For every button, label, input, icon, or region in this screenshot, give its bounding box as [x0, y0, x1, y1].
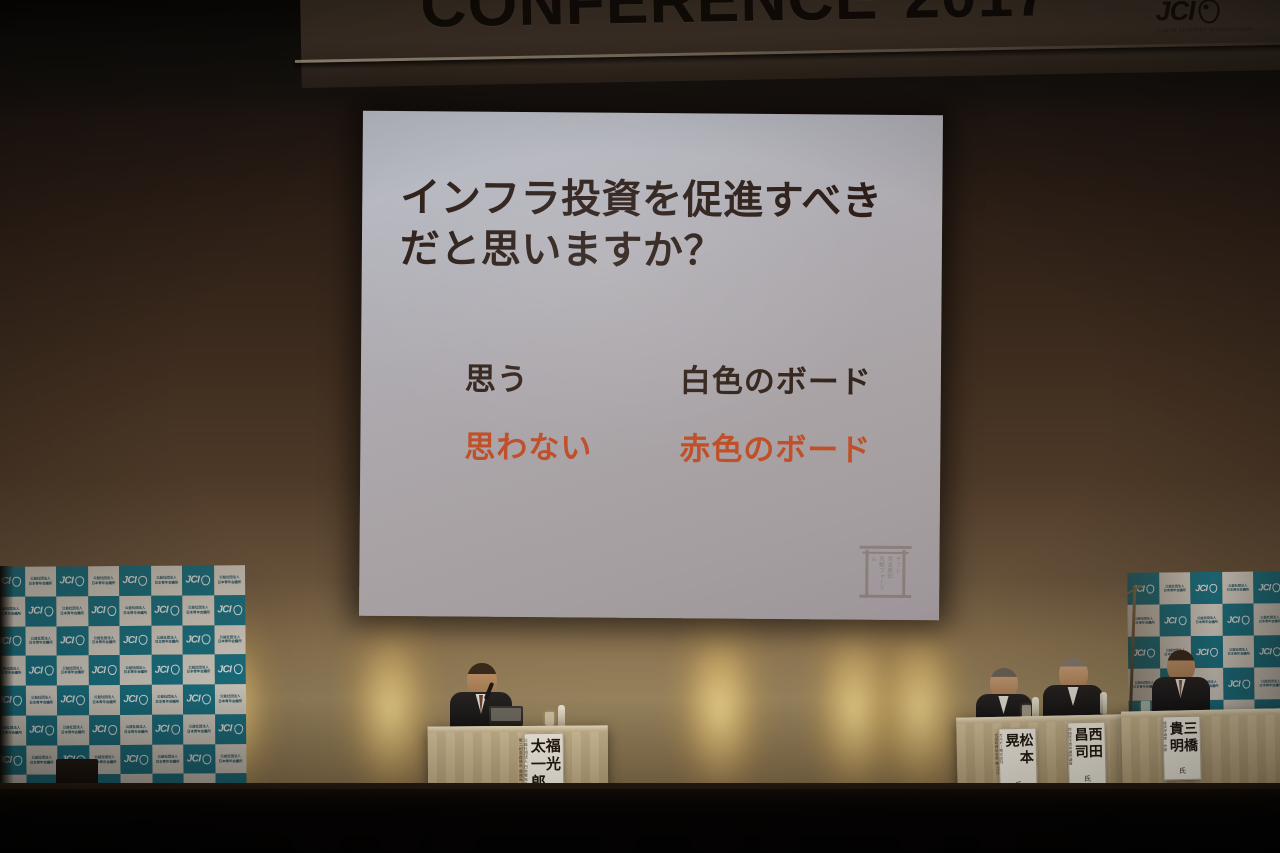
option-no-answer: 思わない: [464, 422, 679, 469]
location-pin-icon: [1198, 0, 1219, 24]
backdrop-logo-tile: JCI: [119, 566, 151, 596]
backdrop-org-name: 公益社団法人 日本青年会議所: [1195, 616, 1217, 625]
backdrop-logo-tile: JCI: [1254, 635, 1280, 667]
backdrop-text-tile: 公益社団法人 日本青年会議所: [183, 655, 215, 685]
backdrop-text-tile: 公益社団法人 日本青年会議所: [183, 714, 215, 744]
backdrop-logo-tile: JCI: [151, 595, 183, 625]
nameplate-panelist-nishida: 西田 昌司 自由民主党参議院議員 氏: [1067, 722, 1106, 789]
backdrop-org-name: 公益社団法人 日本青年会議所: [61, 725, 85, 734]
location-pin-icon: [140, 754, 149, 764]
jci-logo-icon: JCI: [1259, 646, 1280, 656]
backdrop-text-tile: 公益社団法人 日本青年会議所: [119, 596, 151, 626]
audience-head: [1230, 819, 1276, 853]
torii-top-bar: [860, 546, 912, 549]
audience-head: [40, 825, 78, 853]
location-pin-icon: [202, 694, 211, 704]
backdrop-text-tile: 公益社団法人 日本青年会議所: [215, 744, 247, 774]
jci-logo-icon: JCI: [155, 664, 180, 675]
audience-head: [980, 825, 1018, 853]
backdrop-org-name: 公益社団法人 日本青年会議所: [218, 695, 242, 704]
audience-head: [290, 817, 340, 853]
location-pin-icon: [170, 605, 179, 615]
backdrop-org-name: 公益社団法人 日本青年会議所: [92, 576, 116, 585]
backdrop-logo-tile: JCI: [89, 715, 121, 745]
backdrop-logo-tile: JCI: [26, 715, 58, 745]
backdrop-logo-tile: JCI: [56, 626, 88, 656]
jci-logo-icon: JCI: [92, 724, 117, 735]
audience-head: [170, 827, 204, 853]
backdrop-org-name: 公益社団法人 日本青年会議所: [30, 755, 54, 764]
backdrop-text-tile: 公益社団法人 日本青年会議所: [1191, 604, 1223, 636]
jci-logo-icon: JCI: [60, 635, 85, 646]
nameplate-honorific: 氏: [1179, 766, 1186, 776]
location-pin-icon: [1210, 647, 1218, 656]
jci-logo-icon: JCI: [155, 724, 180, 735]
backdrop-logo-tile: JCI: [1159, 604, 1191, 636]
backdrop-org-name: 公益社団法人 日本青年会議所: [156, 755, 180, 764]
backdrop-org-name: 公益社団法人 日本青年会議所: [218, 635, 242, 644]
backdrop-logo-tile: JCI: [1223, 668, 1255, 700]
jci-logo-icon: JCI: [218, 723, 243, 734]
audience-head: [120, 819, 166, 853]
backdrop-text-tile: 公益社団法人 日本青年会議所: [214, 684, 246, 714]
projection-screen: インフラ投資を促進すべき だと思いますか？ 思う 白色のボード 思わない 赤色の…: [359, 111, 943, 621]
backdrop-text-tile: 公益社団法人 日本青年会議所: [1223, 636, 1255, 668]
backdrop-logo-tile: JCI: [183, 684, 215, 714]
backdrop-text-tile: 公益社団法人 日本青年会議所: [57, 715, 89, 745]
location-pin-icon: [234, 724, 243, 734]
location-pin-icon: [107, 665, 116, 675]
backdrop-text-tile: 公益社団法人 日本青年会議所: [120, 715, 152, 745]
banner-jci-text: JCI: [1155, 0, 1195, 26]
backdrop-org-name: 公益社団法人 日本青年会議所: [29, 636, 53, 645]
jci-logo-icon: JCI: [217, 604, 242, 615]
backdrop-text-tile: 公益社団法人 日本青年会議所: [1159, 572, 1191, 604]
jci-logo-icon: JCI: [124, 754, 149, 765]
banner-jci-logo: JCI: [1155, 0, 1220, 27]
audience-head: [760, 823, 800, 853]
backdrop-logo-tile: JCI: [119, 625, 151, 655]
backdrop-text-tile: 公益社団法人 日本青年会議所: [152, 744, 184, 774]
jci-logo-icon: JCI: [60, 695, 85, 706]
location-pin-icon: [108, 725, 117, 735]
audience-head: [430, 819, 476, 853]
location-pin-icon: [1273, 647, 1280, 656]
location-pin-icon: [14, 755, 23, 765]
backdrop-logo-tile: JCI: [120, 685, 152, 715]
backdrop-org-name: 公益社団法人 日本青年会議所: [219, 754, 243, 763]
backdrop-logo-tile: JCI: [25, 596, 57, 626]
location-pin-icon: [1146, 584, 1154, 593]
backdrop-org-name: 公益社団法人 日本青年会議所: [1259, 615, 1280, 624]
jci-logo-icon: JCI: [29, 725, 54, 736]
backdrop-org-name: 公益社団法人 日本青年会議所: [155, 576, 179, 585]
backdrop-text-tile: 公益社団法人 日本青年会議所: [214, 625, 246, 655]
backdrop-text-tile: 公益社団法人 日本青年会議所: [88, 626, 120, 656]
location-pin-icon: [1273, 583, 1280, 592]
location-pin-icon: [203, 754, 212, 764]
location-pin-icon: [13, 636, 22, 646]
backdrop-text-tile: 公益社団法人 日本青年会議所: [1222, 572, 1254, 604]
backdrop-text-tile: 公益社団法人 日本青年会議所: [57, 656, 89, 686]
location-pin-icon: [138, 576, 147, 586]
backdrop-logo-tile: JCI: [88, 655, 120, 685]
backdrop-logo-tile: JCI: [1190, 572, 1222, 604]
backdrop-text-tile: 公益社団法人 日本青年会議所: [56, 596, 88, 626]
backdrop-org-name: 公益社団法人 日本青年会議所: [124, 725, 148, 734]
backdrop-logo-tile: JCI: [214, 654, 246, 684]
location-pin-icon: [170, 665, 179, 675]
location-pin-icon: [1242, 679, 1250, 688]
forum-watermark-logo: デフレ 完全脱却 先駆フォーラム: [859, 540, 911, 602]
backdrop-org-name: 公益社団法人 日本青年会議所: [1132, 616, 1154, 625]
backdrop-text-tile: 公益社団法人 日本青年会議所: [182, 595, 214, 625]
audience-head: [1160, 823, 1200, 853]
backdrop-org-name: 公益社団法人 日本青年会議所: [92, 636, 116, 645]
audience-head: [380, 823, 420, 853]
backdrop-text-tile: 公益社団法人 日本青年会議所: [26, 745, 58, 775]
backdrop-org-name: 公益社団法人 日本青年会議所: [60, 606, 84, 615]
location-pin-icon: [233, 664, 242, 674]
jci-logo-icon: JCI: [28, 606, 53, 617]
location-pin-icon: [76, 695, 85, 705]
jci-logo-icon: JCI: [122, 575, 147, 586]
jci-logo-icon: JCI: [92, 665, 117, 676]
location-pin-icon: [233, 605, 242, 615]
jci-logo-icon: JCI: [185, 575, 210, 586]
backdrop-org-name: 公益社団法人 日本青年会議所: [186, 605, 210, 614]
projected-slide: インフラ投資を促進すべき だと思いますか？ 思う 白色のボード 思わない 赤色の…: [359, 111, 943, 621]
backdrop-text-tile: 公益社団法人 日本青年会議所: [25, 566, 57, 596]
jci-logo-icon: JCI: [186, 694, 211, 705]
jci-logo-icon: JCI: [1164, 615, 1186, 625]
option-yes-answer: 思う: [465, 354, 680, 401]
backdrop-text-tile: 公益社団法人 日本青年会議所: [25, 686, 57, 716]
audience-head: [690, 813, 744, 853]
banner-jci-subtext: JUNIOR CHAMBER INTERNATIONAL: [1157, 27, 1254, 35]
backdrop-org-name: 公益社団法人 日本青年会議所: [29, 696, 53, 705]
water-glass: [545, 712, 554, 726]
audience-head: [1080, 815, 1132, 853]
location-pin-icon: [13, 696, 22, 706]
banner-conference-text: CONFERENCE: [420, 0, 879, 41]
banner-title: CONFERENCE2017: [420, 0, 1052, 42]
torii-left-leg: [865, 550, 868, 598]
location-pin-icon: [139, 635, 148, 645]
nameplate-panelist-mitsuhashi: 三橋 貴明 経済評論家・作家 氏: [1162, 716, 1201, 781]
backdrop-text-tile: 公益社団法人 日本青年会議所: [120, 655, 152, 685]
jci-logo-icon: JCI: [123, 635, 148, 646]
backdrop-org-name: 公益社団法人 日本青年会議所: [29, 577, 53, 586]
jci-logo-icon: JCI: [1195, 583, 1217, 593]
jci-logo-icon: JCI: [59, 576, 84, 587]
watermark-text: デフレ 完全脱却 先駆フォーラム: [875, 556, 901, 594]
backdrop-logo-tile: JCI: [151, 655, 183, 685]
jci-logo-icon: JCI: [154, 605, 179, 616]
backdrop-logo-tile: JCI: [56, 566, 88, 596]
location-pin-icon: [45, 725, 54, 735]
backdrop-org-name: 公益社団法人 日本青年会議所: [92, 695, 116, 704]
backdrop-logo-tile: JCI: [88, 596, 120, 626]
jci-logo-icon: JCI: [218, 664, 243, 675]
conference-photo: CONFERENCE2017 JCI JUNIOR CHAMBER INTERN…: [0, 0, 1280, 853]
backdrop-text-tile: 公益社団法人 日本青年会議所: [1254, 603, 1280, 635]
jci-logo-icon: JCI: [123, 694, 148, 705]
torii-right-leg: [902, 550, 905, 598]
backdrop-org-name: 公益社団法人 日本青年会議所: [61, 666, 85, 675]
backdrop-logo-tile: JCI: [182, 625, 214, 655]
location-pin-icon: [171, 724, 180, 734]
backdrop-logo-tile: JCI: [182, 565, 214, 595]
backdrop-text-tile: 公益社団法人 日本青年会議所: [25, 626, 57, 656]
audience-head: [900, 821, 944, 853]
backdrop-logo-tile: JCI: [1222, 604, 1254, 636]
water-bottle: [1100, 692, 1107, 714]
option-no-instruction: 赤色のボード: [679, 423, 871, 470]
backdrop-text-tile: 公益社団法人 日本青年会議所: [151, 625, 183, 655]
backdrop-text-tile: 公益社団法人 日本青年会議所: [214, 565, 246, 595]
backdrop-text-tile: 公益社団法人 日本青年会議所: [151, 685, 183, 715]
jci-logo-icon: JCI: [186, 634, 211, 645]
backdrop-logo-tile: JCI: [214, 595, 246, 625]
panelist-mitsuhashi-person: [1152, 650, 1210, 714]
slide-option-no: 思わない 赤色のボード: [464, 422, 984, 471]
backdrop-org-name: 公益社団法人 日本青年会議所: [218, 575, 242, 584]
jci-logo-icon: JCI: [1258, 582, 1280, 592]
backdrop-logo-tile: JCI: [215, 714, 247, 744]
backdrop-text-tile: 公益社団法人 日本青年会議所: [88, 566, 120, 596]
location-pin-icon: [1241, 615, 1249, 624]
backdrop-text-tile: 公益社団法人 日本青年会議所: [1255, 667, 1280, 699]
backdrop-org-name: 公益社団法人 日本青年会議所: [155, 635, 179, 644]
jci-logo-icon: JCI: [187, 753, 212, 764]
audience-silhouettes: [0, 789, 1280, 853]
slide-option-yes: 思う 白色のボード: [465, 354, 985, 403]
location-pin-icon: [76, 636, 85, 646]
water-bottle: [558, 705, 565, 727]
panelist-nishida-person: [1043, 658, 1103, 720]
backdrop-logo-tile: JCI: [183, 744, 215, 774]
backdrop-logo-tile: JCI: [1254, 571, 1280, 603]
backdrop-org-name: 公益社団法人 日本青年会議所: [155, 695, 179, 704]
backdrop-org-name: 公益社団法人 日本青年会議所: [1227, 583, 1249, 592]
backdrop-org-name: 公益社団法人 日本青年会議所: [187, 665, 211, 674]
backdrop-org-name: 公益社団法人 日本青年会議所: [1227, 647, 1249, 656]
torii-base-bar: [859, 595, 911, 598]
backdrop-logo-tile: JCI: [152, 714, 184, 744]
location-pin-icon: [201, 575, 210, 585]
location-pin-icon: [202, 635, 211, 645]
backdrop-logo-tile: JCI: [25, 656, 57, 686]
banner-year-text: 2017: [904, 0, 1052, 32]
moderator-laptop: [489, 706, 523, 726]
jci-logo-icon: JCI: [29, 665, 54, 676]
backdrop-org-name: 公益社団法人 日本青年会議所: [187, 725, 211, 734]
backdrop-org-name: 公益社団法人 日本青年会議所: [1164, 584, 1186, 593]
location-pin-icon: [107, 606, 116, 616]
jci-logo-icon: JCI: [1227, 615, 1249, 625]
location-pin-icon: [1178, 616, 1186, 625]
audience-head: [600, 827, 636, 853]
jci-logo-icon: JCI: [91, 605, 116, 616]
option-yes-instruction: 白色のボード: [680, 355, 872, 402]
location-pin-icon: [44, 606, 53, 616]
backdrop-text-tile: 公益社団法人 日本青年会議所: [88, 685, 120, 715]
backdrop-org-name: 公益社団法人 日本青年会議所: [124, 665, 148, 674]
backdrop-text-tile: 公益社団法人 日本青年会議所: [151, 566, 183, 596]
backdrop-org-name: 公益社団法人 日本青年会議所: [1259, 679, 1280, 688]
backdrop-logo-tile: JCI: [57, 685, 89, 715]
location-pin-icon: [75, 576, 84, 586]
location-pin-icon: [139, 695, 148, 705]
torii-second-bar: [863, 552, 909, 554]
location-pin-icon: [1209, 583, 1217, 592]
location-pin-icon: [44, 666, 53, 676]
slide-question: インフラ投資を促進すべき だと思いますか？: [400, 173, 911, 279]
backdrop-org-name: 公益社団法人 日本青年会議所: [123, 606, 147, 615]
jci-logo-icon: JCI: [1228, 679, 1250, 689]
backdrop-logo-tile: JCI: [120, 744, 152, 774]
